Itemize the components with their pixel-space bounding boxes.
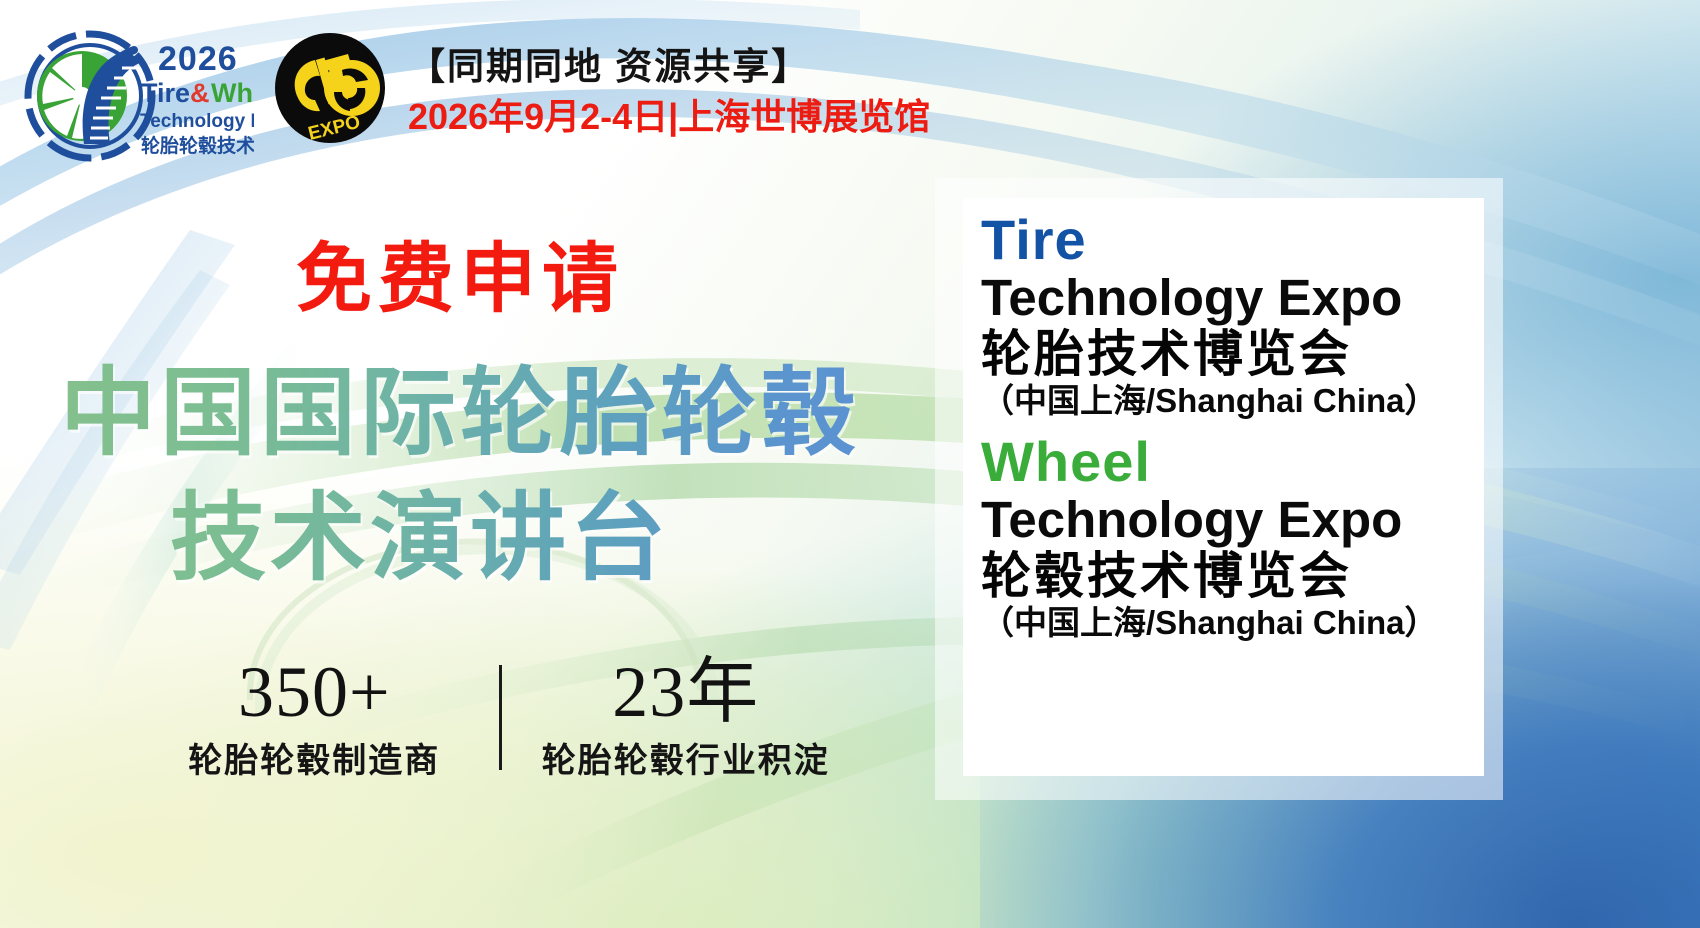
cit-expo-logo-icon[interactable]: EXPO [270,30,390,150]
header-date-venue: 2026年9月2-4日|上海世博展览馆 [408,95,930,139]
wheel-expo-block: Wheel Technology Expo 轮毂技术博览会 （中国上海/Shan… [963,434,1484,642]
logo-subtitle-en: Technology Expo [140,111,254,132]
logo-tire-word: Tire [141,78,190,108]
logo-year-2026: 2026 [158,40,238,78]
stat-value: 350+ [138,655,491,731]
stat-label: 轮胎轮毂行业积淀 [510,733,863,782]
stat-value: 23年 [510,655,863,731]
wheel-cn-title: 轮毂技术博览会 [981,549,1468,604]
stat-item-years: 23年 轮胎轮毂行业积淀 [502,655,871,782]
tire-expo-block: Tire Technology Expo 轮胎技术博览会 （中国上海/Shang… [963,212,1484,420]
main-title: 中国国际轮胎轮毂 技术演讲台 [60,352,940,602]
tire-wheel-logo-icon[interactable]: 2026 Tire & Wheel Technology Expo 轮胎轮毂技术… [22,26,254,166]
stat-item-manufacturers: 350+ 轮胎轮毂制造商 [130,655,499,782]
tire-cn-title: 轮胎技术博览会 [981,327,1468,382]
logo-ampersand: & [190,78,210,108]
header-text-block: 【同期同地 资源共享】 2026年9月2-4日|上海世博展览馆 [408,44,930,139]
main-title-line-2: 技术演讲台 [60,477,940,602]
right-panel: Tire Technology Expo 轮胎技术博览会 （中国上海/Shang… [963,198,1484,776]
poster-canvas: 2026 Tire & Wheel Technology Expo 轮胎轮毂技术… [0,0,1700,928]
stats-row: 350+ 轮胎轮毂制造商 23年 轮胎轮毂行业积淀 [130,655,870,782]
free-apply-headline: 免费申请 [296,242,624,318]
header-tagline: 【同期同地 资源共享】 [408,44,930,89]
wheel-technology-expo: Technology Expo [981,492,1468,547]
tire-location: （中国上海/Shanghai China） [981,383,1468,420]
tire-technology-expo: Technology Expo [981,270,1468,325]
wheel-location: （中国上海/Shanghai China） [981,605,1468,642]
main-title-line-1: 中国国际轮胎轮毂 [60,352,940,477]
tire-brand-word: Tire [981,212,1468,268]
stat-label: 轮胎轮毂制造商 [138,733,491,782]
header: 2026 Tire & Wheel Technology Expo 轮胎轮毂技术… [0,0,1700,175]
wheel-brand-word: Wheel [981,434,1468,490]
logo-subtitle-cn: 轮胎轮毂技术博览会 [141,134,254,157]
logo-wheel-word: Wheel [211,78,254,108]
